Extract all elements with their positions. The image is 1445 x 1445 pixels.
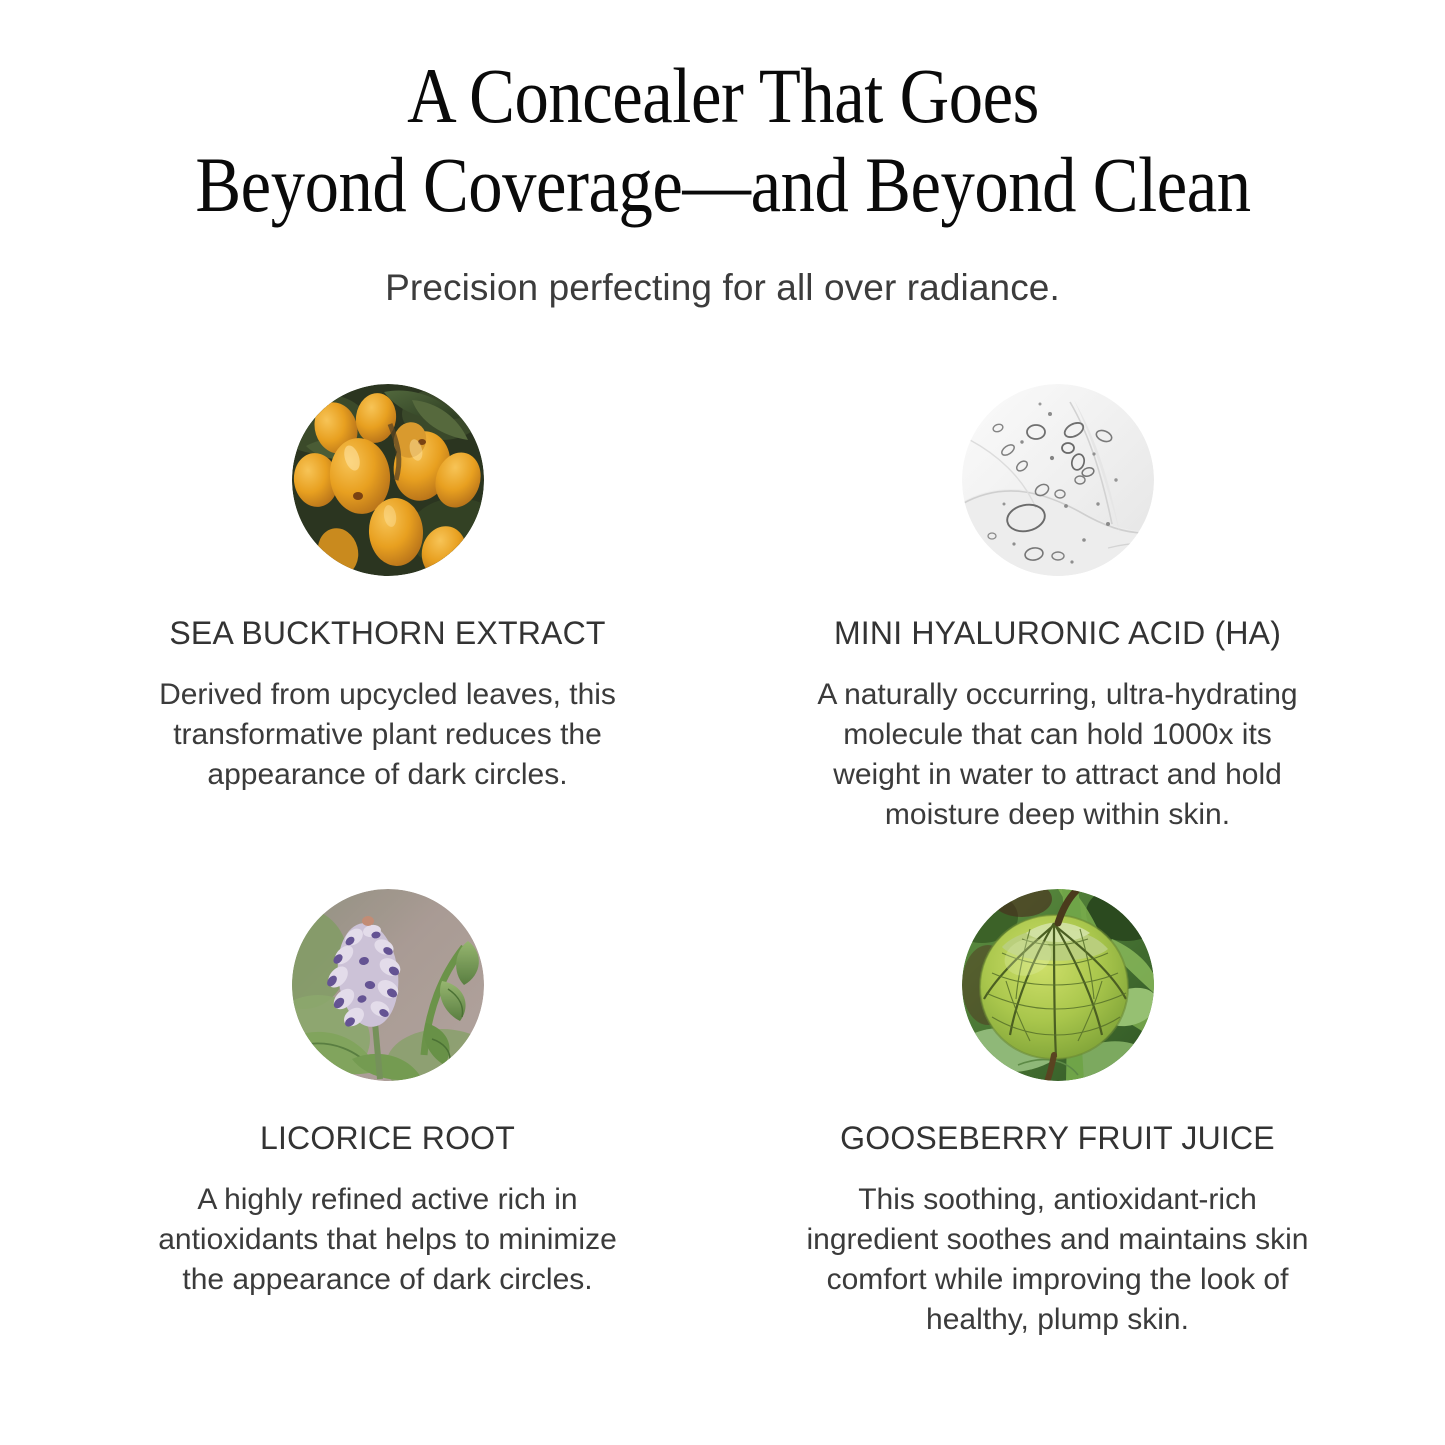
page-title: A Concealer That Goes Beyond Coverage—an… xyxy=(159,52,1285,230)
ingredient-description: This soothing, antioxidant-rich ingredie… xyxy=(798,1180,1318,1340)
ingredient-card-hyaluronic-acid: MINI HYALURONIC ACID (HA) A naturally oc… xyxy=(723,384,1393,835)
ingredient-card-gooseberry: GOOSEBERRY FRUIT JUICE This soothing, an… xyxy=(723,889,1393,1340)
page-subtitle: Precision perfecting for all over radian… xyxy=(0,266,1445,310)
ingredient-description: A highly refined active rich in antioxid… xyxy=(153,1180,623,1300)
hyaluronic-acid-gel-texture-photo xyxy=(962,384,1154,576)
ingredient-grid: SEA BUCKTHORN EXTRACT Derived from upcyc… xyxy=(53,310,1393,1340)
ingredient-title: GOOSEBERRY FRUIT JUICE xyxy=(840,1121,1275,1156)
headline-line-1: A Concealer That Goes xyxy=(159,52,1285,141)
ingredient-card-licorice-root: LICORICE ROOT A highly refined active ri… xyxy=(53,889,723,1340)
licorice-root-flower-photo xyxy=(292,889,484,1081)
ingredient-card-sea-buckthorn: SEA BUCKTHORN EXTRACT Derived from upcyc… xyxy=(53,384,723,835)
ingredient-title: MINI HYALURONIC ACID (HA) xyxy=(834,616,1281,651)
page-header: A Concealer That Goes Beyond Coverage—an… xyxy=(0,0,1445,310)
ingredient-title: SEA BUCKTHORN EXTRACT xyxy=(169,616,605,651)
ingredient-infographic-page: A Concealer That Goes Beyond Coverage—an… xyxy=(0,0,1445,1445)
gooseberry-fruit-husk-photo xyxy=(962,889,1154,1081)
ingredient-title: LICORICE ROOT xyxy=(260,1121,515,1156)
ingredient-description: Derived from upcycled leaves, this trans… xyxy=(153,675,623,795)
ingredient-description: A naturally occurring, ultra-hydrating m… xyxy=(798,675,1318,835)
sea-buckthorn-berries-photo xyxy=(292,384,484,576)
headline-line-2: Beyond Coverage—and Beyond Clean xyxy=(159,141,1285,230)
